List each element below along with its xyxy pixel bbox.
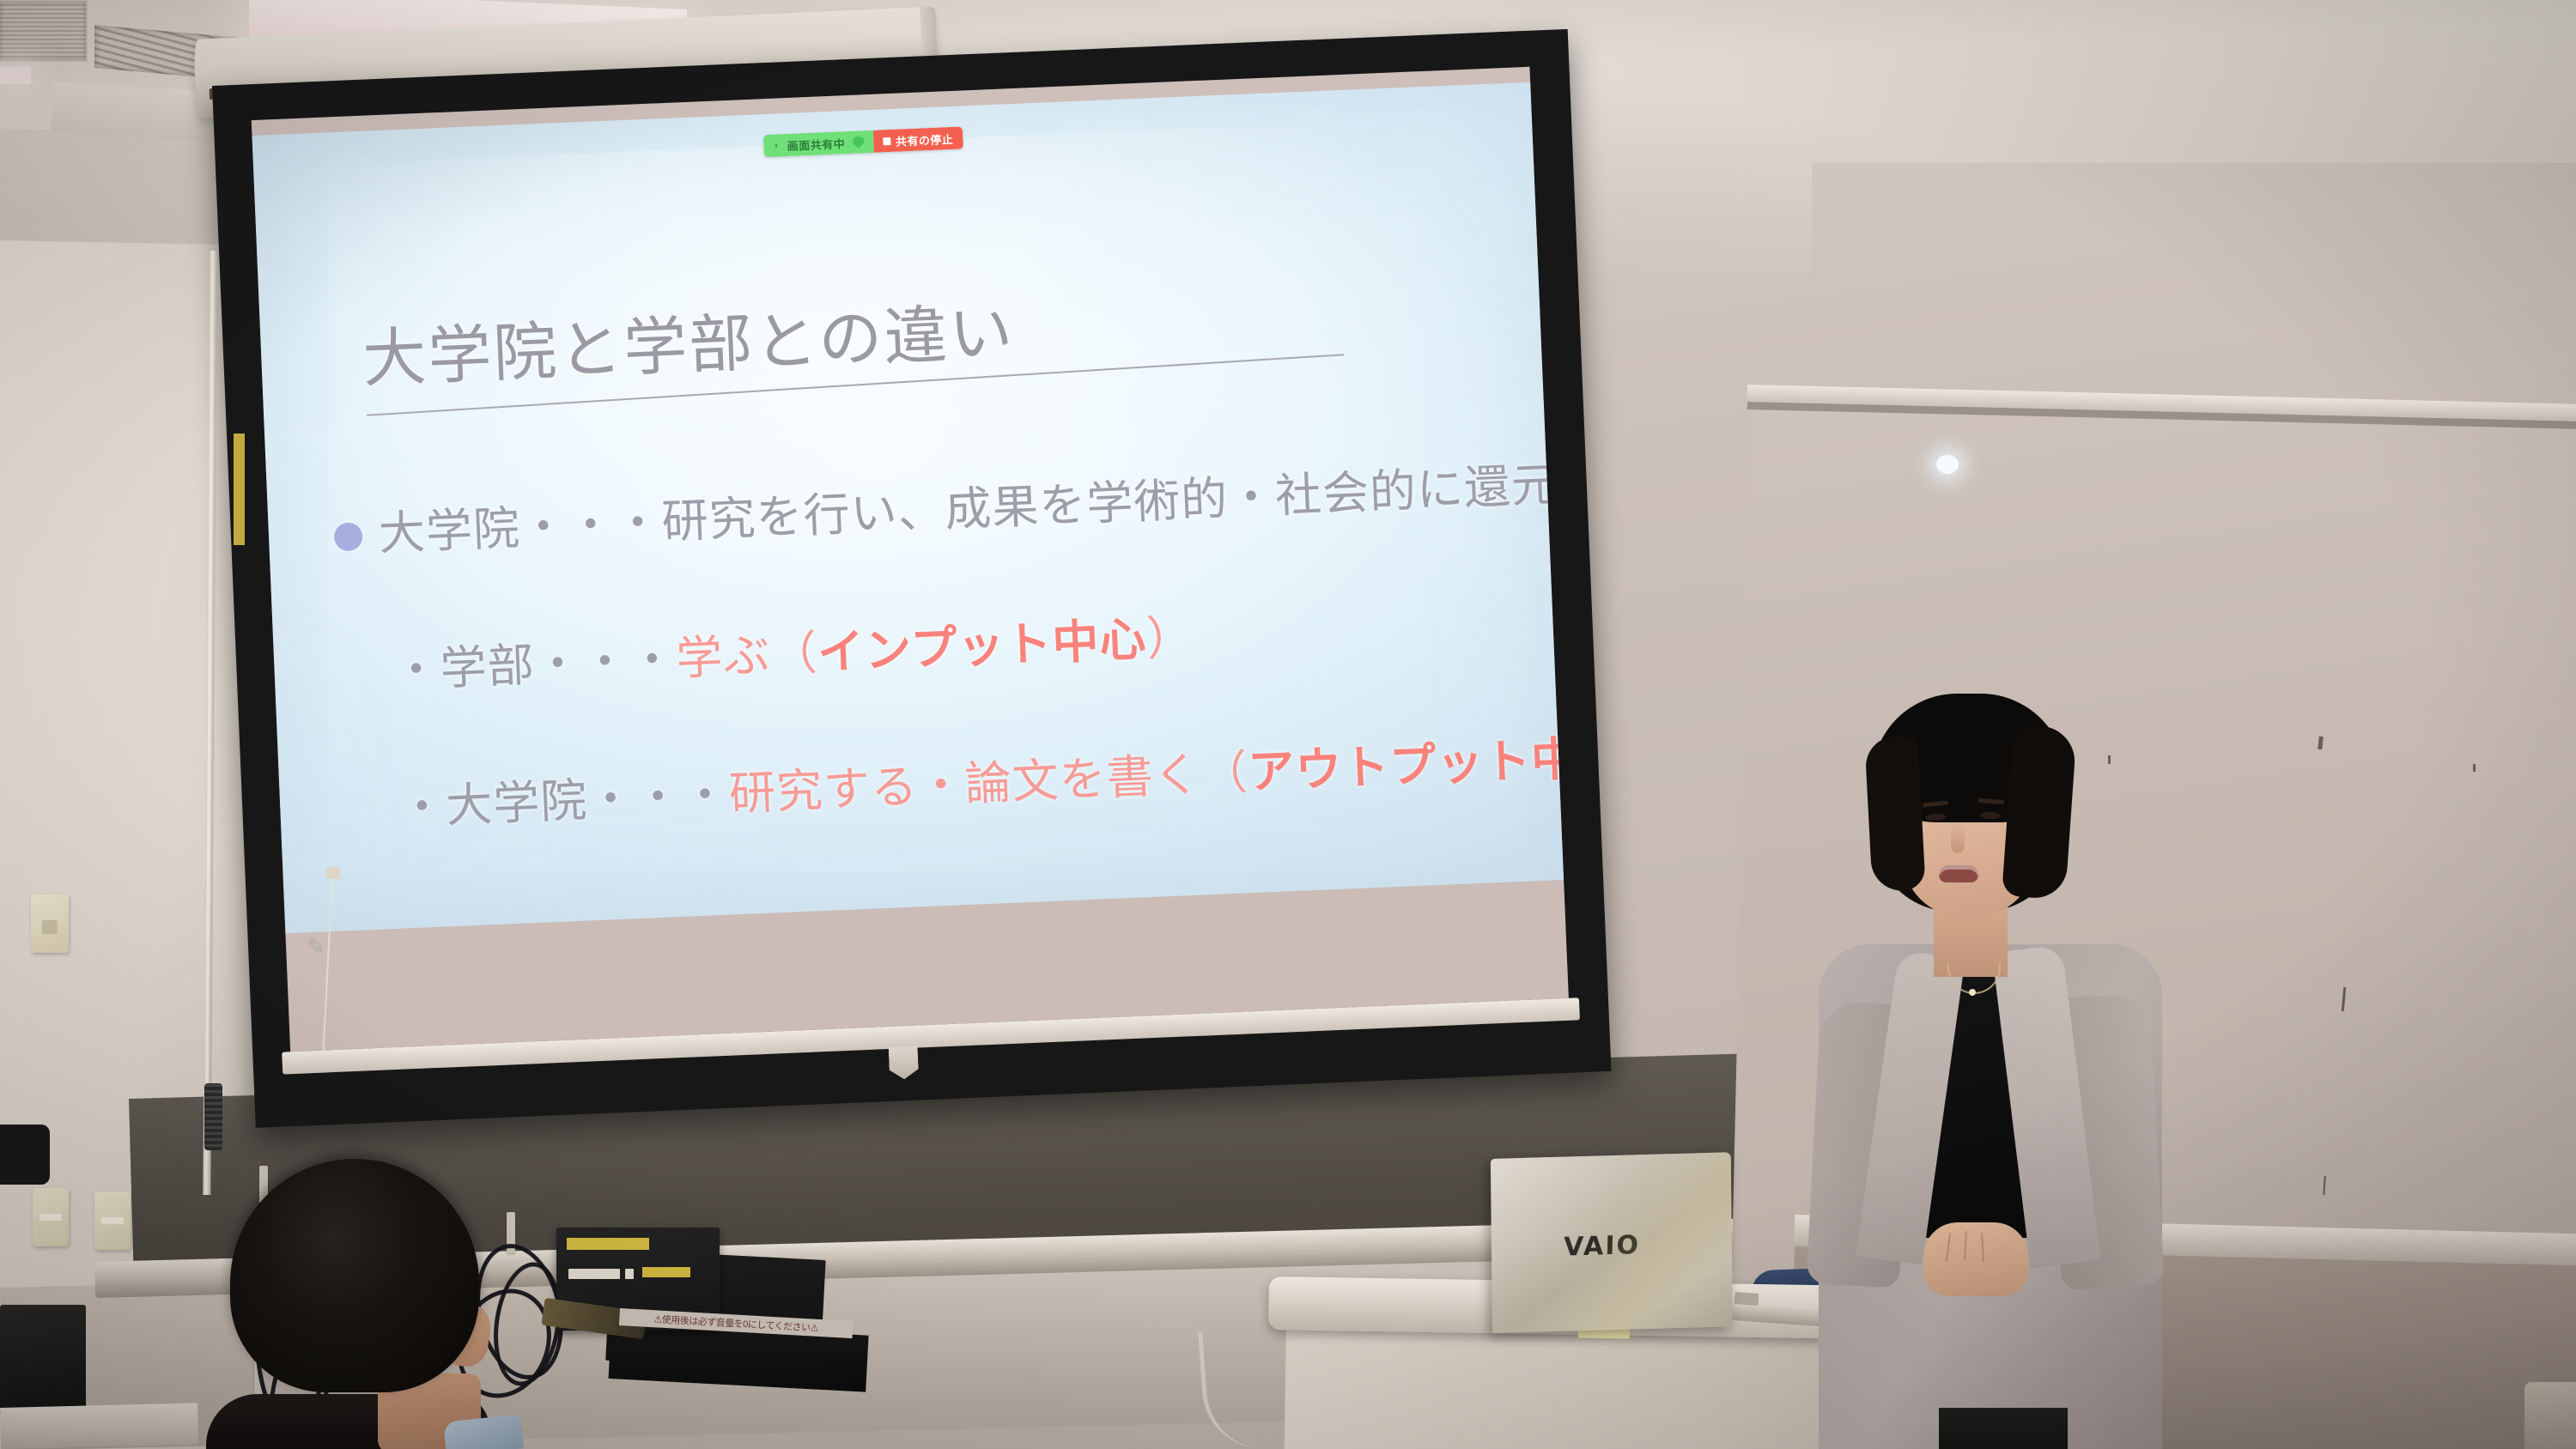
projection-screen-assembly: ◖ 画面共有中 共有の停止 大学院と学部との違い 大学院・・・研 bbox=[212, 56, 954, 601]
presenter-mouth bbox=[1939, 865, 1978, 882]
seg-u-1: ・学部・・・ bbox=[392, 634, 677, 697]
switch-slot-icon bbox=[42, 920, 58, 934]
laptop-lid[interactable]: VAIO bbox=[1491, 1152, 1733, 1333]
whiteboard-smudge bbox=[2473, 764, 2476, 772]
ceiling-light-fixture-secondary bbox=[0, 67, 31, 84]
projection-screen-surface: ◖ 画面共有中 共有の停止 大学院と学部との違い 大学院・・・研 bbox=[252, 67, 1569, 1052]
amplifier-label-sticker bbox=[567, 1238, 649, 1250]
slide-line-graduate-definition: 大学院・・・研究を行い、成果を学術的・社会的に還元する。 bbox=[377, 440, 1569, 563]
presenter-necklace-pendant bbox=[1969, 989, 1976, 996]
foreground-monitor-edge bbox=[0, 1125, 50, 1185]
foreground-desk-edge bbox=[0, 1403, 198, 1449]
student bbox=[215, 1159, 532, 1449]
wall-outlet-right[interactable] bbox=[94, 1191, 131, 1250]
slide-content: 大学院と学部との違い 大学院・・・研究を行い、成果を学術的・社会的に還元する。 … bbox=[252, 82, 1564, 934]
amplifier-label-sticker-secondary bbox=[642, 1267, 690, 1277]
lecture-room-scene: ◖ 画面共有中 共有の停止 大学院と学部との違い 大学院・・・研 bbox=[0, 0, 2576, 1449]
pull-pole-grip[interactable] bbox=[204, 1083, 222, 1150]
amplifier-button[interactable] bbox=[625, 1269, 634, 1279]
slide-line-1-text: 大学院・・・研究を行い、成果を学術的・社会的に還元する。 bbox=[378, 453, 1569, 560]
pull-pole-label bbox=[234, 433, 245, 545]
slide-line-graduate: ・大学院・・・研究する・論文を書く（アウトプット中心） bbox=[398, 716, 1569, 837]
air-vent-grill-icon bbox=[0, 0, 88, 62]
seg-g-2: 研究する・論文を書く bbox=[728, 749, 1202, 821]
foreground-equipment-box bbox=[0, 1305, 86, 1416]
projected-slide-area: ◖ 画面共有中 共有の停止 大学院と学部との違い 大学院・・・研 bbox=[252, 82, 1564, 934]
presenter-hands bbox=[1923, 1222, 2028, 1296]
slide-title: 大学院と学部との違い bbox=[361, 281, 1016, 400]
seg-u-2: 学ぶ bbox=[675, 629, 771, 685]
presenter-trousers bbox=[1939, 1408, 2068, 1449]
seg-g-3: （ bbox=[1200, 747, 1249, 800]
seg-u-3: （ bbox=[769, 627, 818, 681]
laptop-hinge bbox=[1735, 1292, 1759, 1306]
seg-g-1: ・大学院・・・ bbox=[398, 769, 730, 834]
laptop-brand-logo: VAIO bbox=[1564, 1230, 1641, 1263]
outlet-slot-icon bbox=[101, 1217, 124, 1224]
bullet-dot-icon bbox=[333, 522, 362, 551]
outlet-slot-icon bbox=[39, 1214, 62, 1221]
amplifier-button[interactable] bbox=[568, 1269, 620, 1279]
wall-anchor bbox=[326, 867, 340, 879]
student-hair bbox=[230, 1159, 479, 1392]
presenter-hair-right bbox=[2002, 724, 2077, 900]
seg-u-5: ） bbox=[1145, 612, 1194, 665]
presenter-hair-left bbox=[1864, 736, 1925, 893]
foreground-desk-right bbox=[2524, 1382, 2576, 1449]
presenter-nose bbox=[1951, 824, 1965, 853]
seg-g-4: アウトプット中心 bbox=[1247, 731, 1569, 798]
whiteboard-light-reflection bbox=[1936, 455, 1959, 474]
seg-u-4: インプット中心 bbox=[817, 614, 1148, 679]
wall-outlet-left[interactable] bbox=[33, 1188, 69, 1246]
wall-switch-plate-upper[interactable] bbox=[31, 894, 69, 953]
presenter bbox=[1795, 687, 2190, 1449]
slide-line-undergraduate: ・学部・・・学ぶ（インプット中心） bbox=[392, 599, 1195, 700]
pencil-cursor-icon: ✎ bbox=[307, 935, 330, 961]
